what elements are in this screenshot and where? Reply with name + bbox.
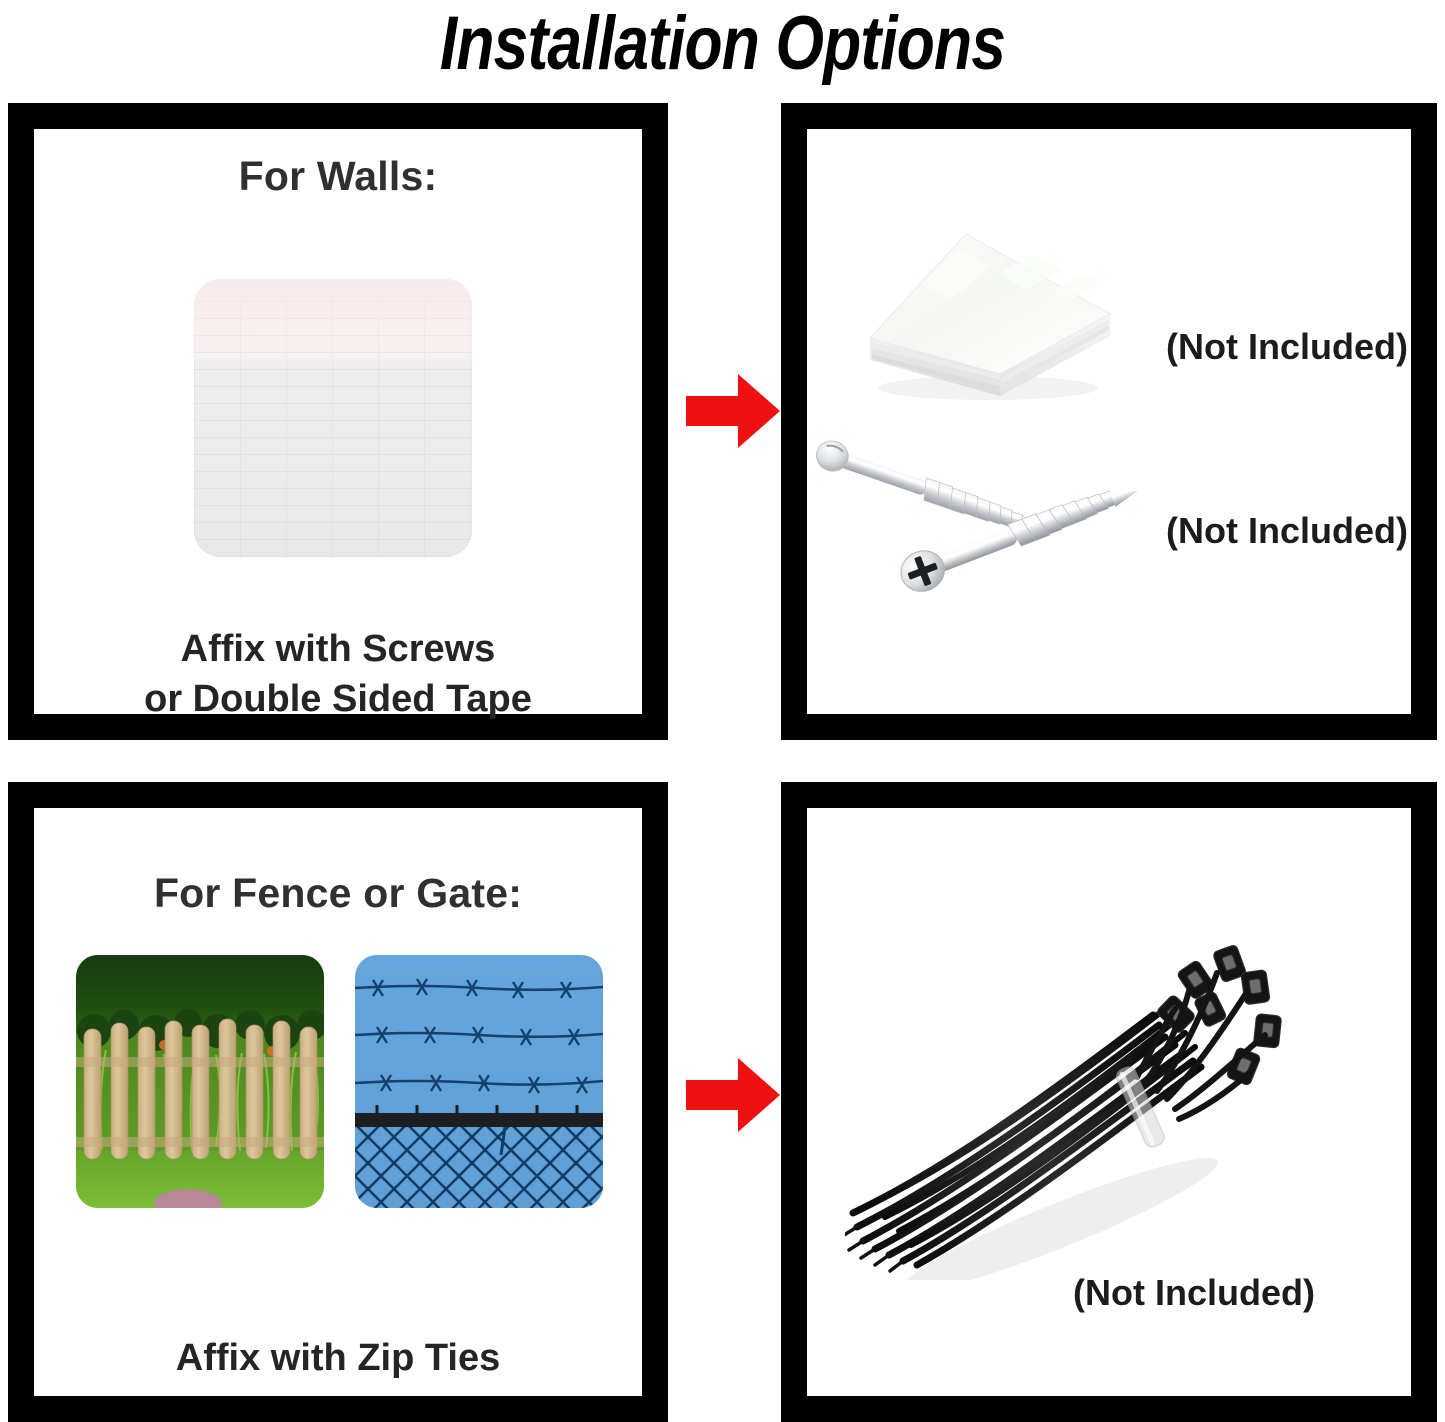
double-sided-tape-stack-image	[848, 228, 1113, 408]
tape-not-included-label: (Not Included)	[1166, 326, 1408, 368]
zip-ties-bundle-image	[845, 905, 1285, 1280]
for-walls-caption-line1: Affix with Screws	[34, 624, 642, 674]
panel-wall-hardware-inner	[807, 129, 1411, 714]
panel-for-walls: For Walls: Affix with Screws or Double S…	[8, 103, 668, 740]
page-title: Installation Options	[130, 0, 1315, 91]
for-fence-heading: For Fence or Gate:	[34, 870, 642, 917]
zipties-not-included-label: (Not Included)	[1073, 1272, 1315, 1314]
for-fence-caption: Affix with Zip Ties	[34, 1333, 642, 1383]
white-brick-wall-image	[194, 279, 472, 557]
screws-not-included-label: (Not Included)	[1166, 510, 1408, 552]
barbed-wire-chain-link-fence-photo	[355, 955, 603, 1208]
panel-for-walls-inner: For Walls: Affix with Screws or Double S…	[34, 129, 642, 714]
red-right-arrow-icon-top	[686, 372, 780, 450]
for-walls-caption-line2: or Double Sided Tape	[34, 674, 642, 724]
for-walls-heading: For Walls:	[34, 153, 642, 200]
red-right-arrow-icon-bottom	[686, 1056, 780, 1134]
wood-screws-image	[808, 436, 1168, 616]
wooden-picket-fence-photo	[76, 955, 324, 1208]
panel-wall-hardware	[781, 103, 1437, 740]
